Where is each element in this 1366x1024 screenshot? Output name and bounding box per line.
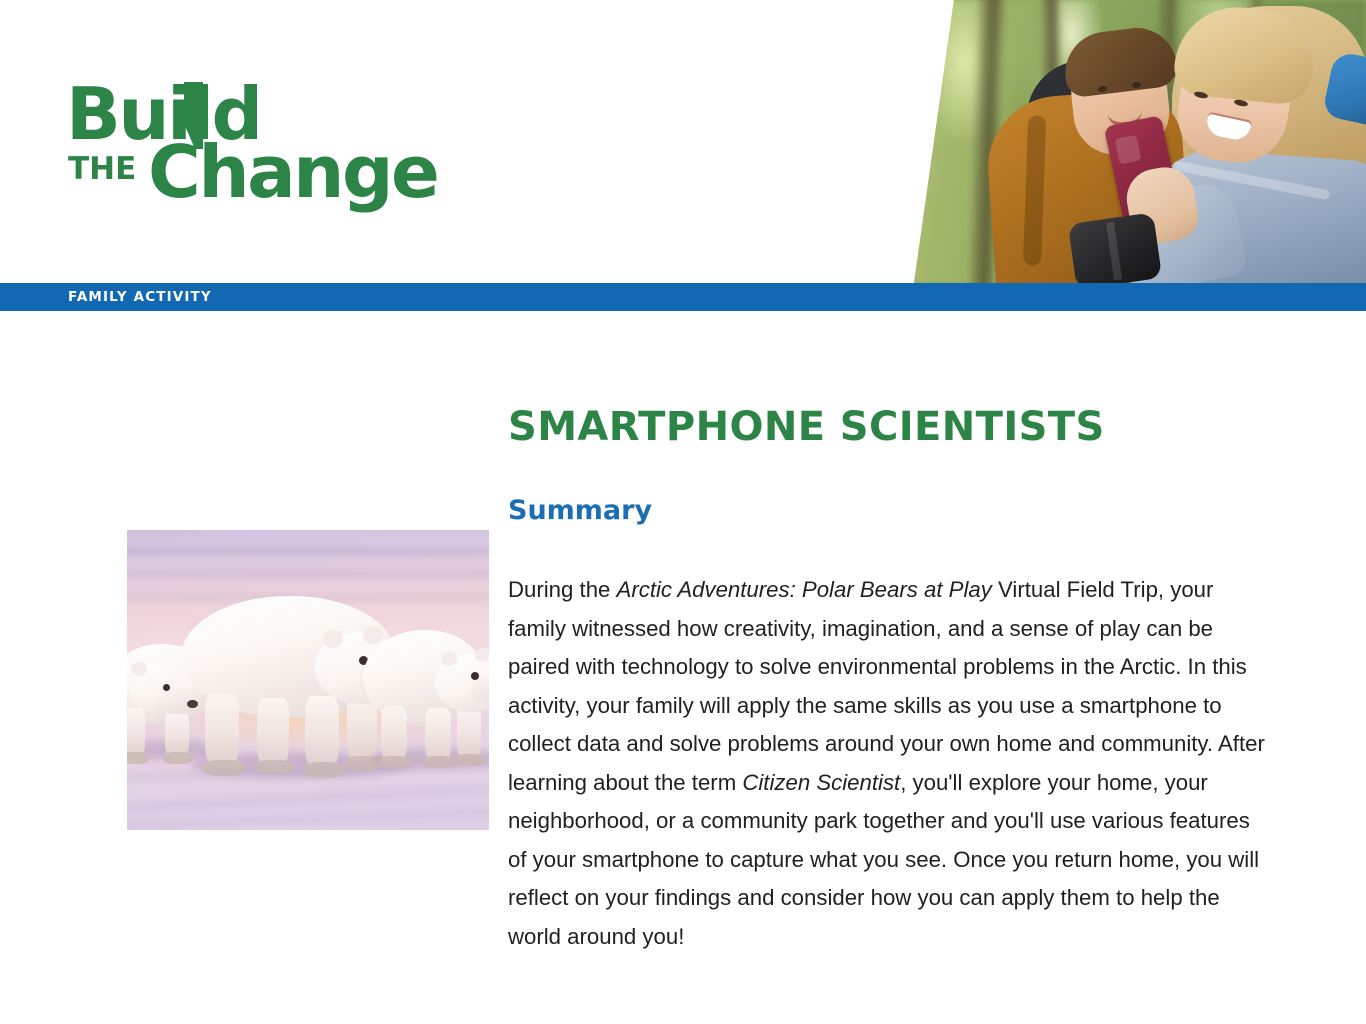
summary-text-part-3: , you'll explore your home, your neighbo… — [508, 770, 1259, 949]
activity-sheet-page: Build THE Change FAMILY ACTIVITY — [0, 0, 1366, 1024]
bear-eye — [163, 684, 170, 691]
build-the-change-logo: Build THE Change — [66, 78, 436, 210]
family-activity-banner: FAMILY ACTIVITY — [0, 283, 1366, 311]
polar-bear-cub-right — [363, 624, 489, 774]
snow-streak — [127, 570, 489, 577]
section-heading-summary: Summary — [508, 497, 652, 524]
page-body: SMARTPHONE SCIENTISTS Summary During the… — [0, 311, 1366, 1024]
logo-word-change: Change — [148, 136, 437, 208]
hero-photo-family-with-smartphone — [876, 0, 1366, 283]
banner-label: FAMILY ACTIVITY — [68, 289, 212, 305]
polar-bear-photo — [127, 530, 489, 830]
bear-eye — [471, 672, 479, 680]
summary-italic-citizen-scientist: Citizen Scientist — [742, 770, 900, 795]
bear-leg — [205, 694, 239, 770]
page-title: SMARTPHONE SCIENTISTS — [508, 407, 1105, 447]
summary-paragraph: During the Arctic Adventures: Polar Bear… — [508, 571, 1270, 956]
summary-text-part-1: During the — [508, 577, 617, 602]
bear-ear — [475, 648, 489, 662]
bear-ear — [441, 652, 457, 666]
bear-ear — [323, 630, 343, 648]
summary-text-part-2: Virtual Field Trip, your family witnesse… — [508, 577, 1265, 795]
bear-ear — [131, 662, 147, 676]
snow-streak — [127, 548, 489, 555]
page-header: Build THE Change — [0, 0, 1366, 283]
hero-binoculars — [1068, 212, 1162, 283]
logo-word-the: THE — [68, 154, 136, 185]
summary-italic-field-trip-title: Arctic Adventures: Polar Bears at Play — [617, 577, 992, 602]
bear-paw — [127, 752, 149, 764]
bear-leg — [305, 696, 339, 772]
